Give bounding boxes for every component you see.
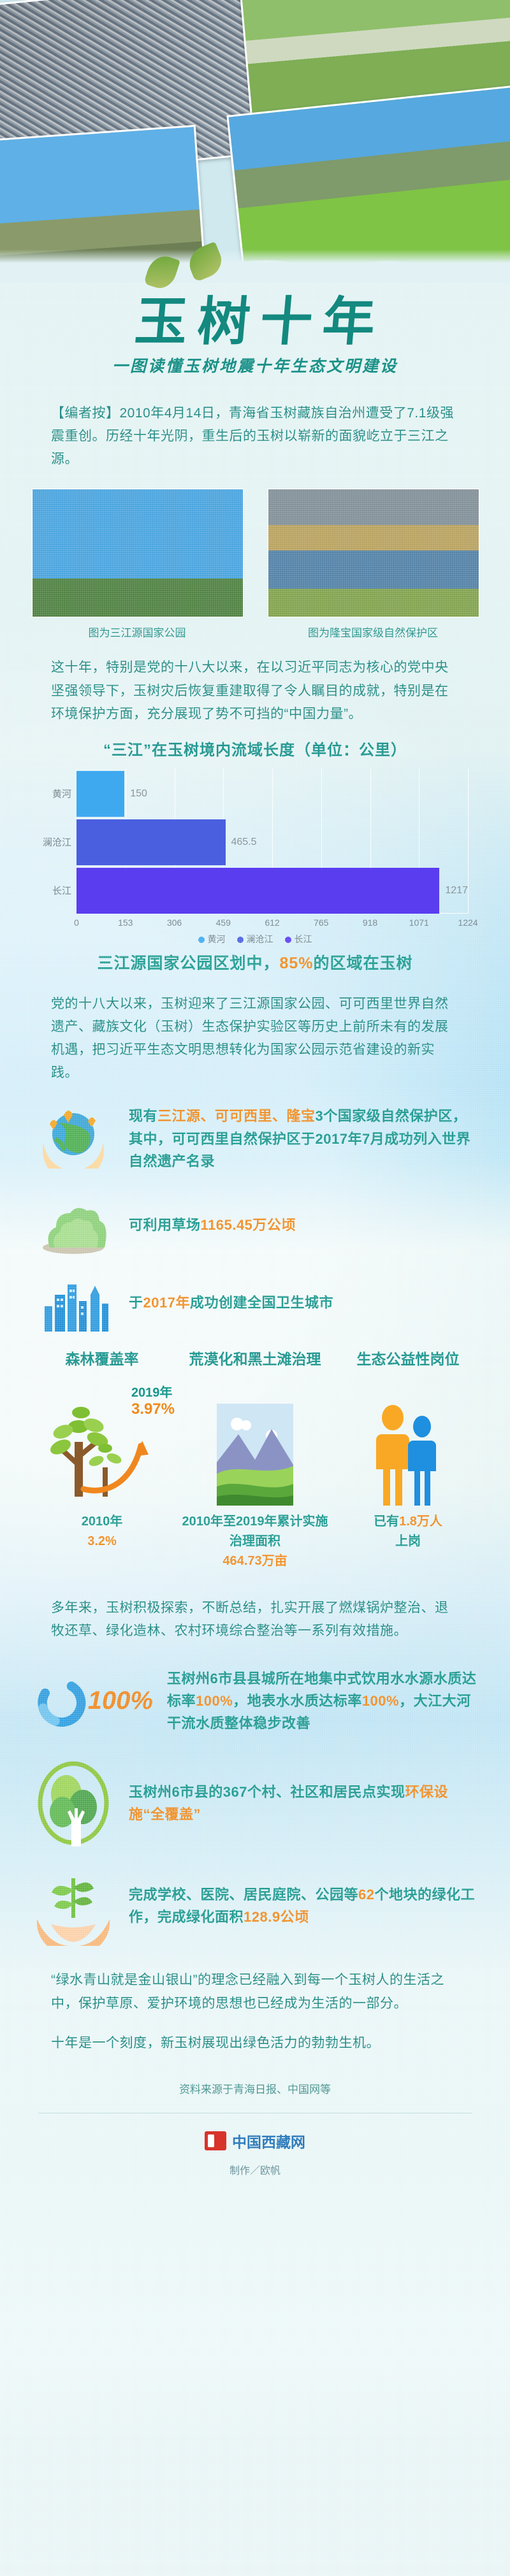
fact-row: 玉树州6市县的367个村、社区和居民点实现环保设施“全覆盖” xyxy=(32,1759,478,1848)
stats-panel: 森林覆盖率 xyxy=(25,1349,484,1571)
photo-card-sanjiangyuan: 图为三江源国家公园 xyxy=(32,489,242,640)
brand-logo-icon xyxy=(205,2131,226,2150)
stat-desertification: 荒漠化和黑土滩治理 2010年至2019年累计实施治理面积 464.73万亩 xyxy=(178,1349,331,1571)
chart-x-tick: 459 xyxy=(216,917,231,928)
hero-photo-collage xyxy=(0,0,510,284)
chart-x-tick: 306 xyxy=(167,917,182,928)
chart-bar xyxy=(76,771,124,817)
chart-x-tick: 1071 xyxy=(409,917,429,928)
credit-line: 制作／欧帆 xyxy=(0,2162,510,2200)
chart-bar-label: 黄河 xyxy=(32,787,71,800)
chart-x-tick: 612 xyxy=(265,917,279,928)
sprout-in-hands-icon xyxy=(32,1864,115,1947)
chart-bar-value: 150 xyxy=(130,788,147,800)
chart-x-tick: 1224 xyxy=(458,917,477,928)
footer-divider xyxy=(38,2113,472,2113)
fact-text: 可利用草场1165.45万公顷 xyxy=(129,1214,296,1236)
body-paragraph-2: 党的十八大以来，玉树迎来了三江源国家公园、可可西里世界自然遗产、藏族文化（玉树）… xyxy=(51,993,459,1084)
fact-text: 现有三江源、可可西里、隆宝3个国家级自然保护区，其中，可可西里自然保护区于201… xyxy=(129,1105,478,1172)
body-paragraph-1: 这十年，特别是党的十八大以来，在以习近平同志为核心的党中央坚强领导下，玉树灾后恢… xyxy=(51,656,459,725)
stat-caption-pre: 已有 xyxy=(374,1515,399,1529)
chart-x-tick: 918 xyxy=(363,917,377,928)
stat-value: 1.8万人 xyxy=(399,1515,442,1529)
chart-gridline xyxy=(468,768,469,914)
chart-bar-label: 长江 xyxy=(32,884,71,897)
highlight-number: 85% xyxy=(279,954,313,972)
longbao-reserve-photo xyxy=(268,489,479,617)
fact-row: 完成学校、医院、居民庭院、公园等62个地块的绿化工作，完成绿化面积128.9公顷 xyxy=(32,1864,478,1947)
fact-text: 玉树州6市县的367个村、社区和居民点实现环保设施“全覆盖” xyxy=(129,1781,478,1825)
fact-text: 完成学校、医院、居民庭院、公园等62个地块的绿化工作，完成绿化面积128.9公顷 xyxy=(129,1883,478,1928)
captioned-photo-row: 图为三江源国家公园 图为隆宝国家级自然保护区 xyxy=(32,489,478,640)
tree-hand-circle-icon xyxy=(32,1759,115,1848)
two-people-icon xyxy=(331,1378,484,1512)
stat-heading: 荒漠化和黑土滩治理 xyxy=(178,1349,331,1369)
stat-heading: 森林覆盖率 xyxy=(25,1349,178,1369)
stat-eco-jobs: 生态公益性岗位 已有1.8万人 上岗 xyxy=(331,1349,484,1571)
editor-note-paragraph: 【编者按】2010年4月14日，青海省玉树藏族自治州遭受了7.1级强震重创。历经… xyxy=(51,402,459,471)
achievement-list: 100%玉树州6市县县城所在地集中式饮用水水源水质达标率100%，地表水水质达标… xyxy=(0,1659,510,1947)
stat-caption-text: 2010年至2019年累计实施治理面积 xyxy=(182,1515,328,1548)
stat-top-values: 2019年 3.97% xyxy=(131,1382,175,1418)
stat-caption: 2010年至2019年累计实施治理面积 464.73万亩 xyxy=(178,1512,331,1571)
chart-x-tick: 153 xyxy=(118,917,133,928)
chart-bar-value: 465.5 xyxy=(231,837,257,848)
body-paragraph-4: “绿水青山就是金山银山”的理念已经融入到每一个玉树人的生活之中，保护草原、爱护环… xyxy=(51,1969,459,2015)
sanjiangyuan-park-photo xyxy=(32,489,244,617)
stat-value: 464.73万亩 xyxy=(178,1551,331,1571)
chart-bar-label: 澜沧江 xyxy=(32,835,71,849)
chart-title: “三江”在玉树境内流域长度（单位：公里） xyxy=(25,737,484,759)
city-skyline-icon xyxy=(32,1273,115,1332)
chart-x-tick: 765 xyxy=(314,917,328,928)
highlight-banner-85: 三江源国家公园区划中，85%的区域在玉树 xyxy=(0,946,510,976)
stat-top-year: 2019年 xyxy=(131,1382,175,1400)
brand-name: 中国西藏网 xyxy=(232,2130,305,2152)
fact-row: 于2017年成功创建全国卫生城市 xyxy=(32,1273,478,1332)
grassland-photo-icon xyxy=(178,1378,331,1512)
body-paragraph-5: 十年是一个刻度，新玉树展现出绿色活力的勃勃生机。 xyxy=(51,2032,459,2055)
title-block: 玉树十年 一图读懂玉树地震十年生态文明建设 xyxy=(0,284,510,377)
tree-growth-icon: 2019年 3.97% xyxy=(25,1378,178,1512)
fact-text: 于2017年成功创建全国卫生城市 xyxy=(129,1292,333,1314)
chart-legend: 黄河澜沧江长江 xyxy=(25,933,484,946)
infographic-page: 玉树十年 一图读懂玉树地震十年生态文明建设 【编者按】2010年4月14日，青海… xyxy=(0,0,510,2576)
stat-top-value: 3.97% xyxy=(131,1400,175,1418)
chart-bar-row: 澜沧江465.5 xyxy=(76,819,468,865)
fact-row: 可利用草场1165.45万公顷 xyxy=(32,1193,478,1256)
chart-bar-row: 黄河150 xyxy=(76,771,468,817)
highlight-pre: 三江源国家公园区划中， xyxy=(97,954,279,972)
chart-bar-row: 长江1217 xyxy=(76,868,468,914)
percent-badge: 100% xyxy=(88,1687,153,1715)
fact-row: 100%玉树州6市县县城所在地集中式饮用水水源水质达标率100%，地表水水质达标… xyxy=(32,1659,478,1742)
brand-row: 中国西藏网 xyxy=(0,2130,510,2152)
grass-bush-icon xyxy=(32,1193,115,1256)
source-note: 资料来源于青海日报、中国网等 xyxy=(0,2080,510,2096)
chart-legend-item: 长江 xyxy=(285,933,312,946)
chart-bar xyxy=(76,868,439,914)
globe-in-hands-icon xyxy=(32,1101,115,1176)
fact-text: 玉树州6市县县城所在地集中式饮用水水源水质达标率100%，地表水水质达标率100… xyxy=(167,1667,478,1735)
chart-legend-item: 澜沧江 xyxy=(237,933,273,946)
chart-bar-value: 1217 xyxy=(445,885,468,896)
stat-caption: 已有1.8万人 上岗 xyxy=(331,1512,484,1551)
chart-x-tick: 0 xyxy=(74,917,79,928)
percent-donut-icon: 100% xyxy=(32,1659,153,1742)
river-length-chart: “三江”在玉树境内流域长度（单位：公里） 0153306459612765918… xyxy=(25,737,484,946)
stat-bottom-value: 3.2% xyxy=(25,1532,178,1551)
chart-plot-area: 015330645961276591810711224黄河150澜沧江465.5… xyxy=(76,768,468,928)
highlight-post: 的区域在玉树 xyxy=(314,954,413,972)
stat-forest-coverage: 森林覆盖率 xyxy=(25,1349,178,1571)
icon-fact-list: 现有三江源、可可西里、隆宝3个国家级自然保护区，其中，可可西里自然保护区于201… xyxy=(0,1101,510,1332)
photo-caption: 图为三江源国家公园 xyxy=(32,624,242,640)
chart-bar xyxy=(76,819,226,865)
page-subtitle: 一图读懂玉树地震十年生态文明建设 xyxy=(0,354,510,377)
stat-bottom-year: 2010年 xyxy=(82,1515,123,1529)
body-paragraph-3: 多年来，玉树积极探索，不断总结，扎实开展了燃煤锅炉整治、退牧还草、绿化造林、农村… xyxy=(51,1597,459,1643)
cloud-edge-mask xyxy=(0,210,510,284)
page-footer: 资料来源于青海日报、中国网等 中国西藏网 制作／欧帆 xyxy=(0,2055,510,2200)
photo-card-longbao: 图为隆宝国家级自然保护区 xyxy=(268,489,478,640)
chart-legend-item: 黄河 xyxy=(198,933,226,946)
page-title: 玉树十年 xyxy=(0,295,510,350)
stat-bottom-values: 2010年 3.2% xyxy=(25,1512,178,1551)
photo-caption: 图为隆宝国家级自然保护区 xyxy=(268,624,478,640)
stat-heading: 生态公益性岗位 xyxy=(331,1349,484,1369)
stat-caption-post: 上岗 xyxy=(331,1532,484,1551)
fact-row: 现有三江源、可可西里、隆宝3个国家级自然保护区，其中，可可西里自然保护区于201… xyxy=(32,1101,478,1176)
